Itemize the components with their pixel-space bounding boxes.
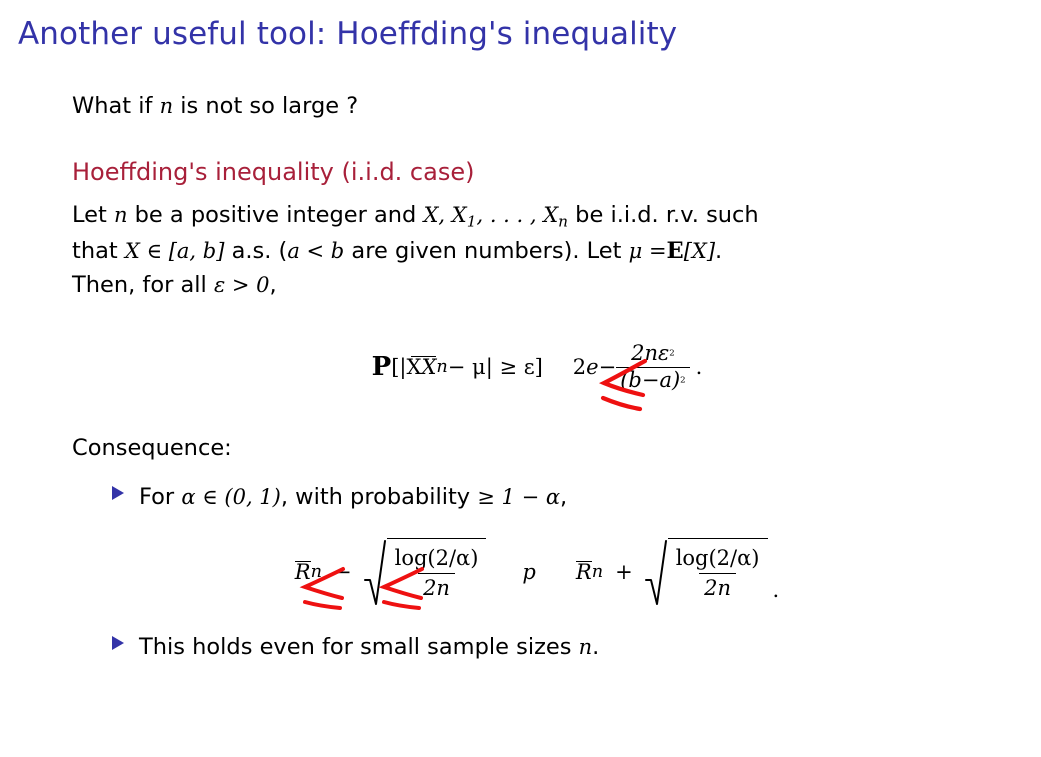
thm2-m2: ∈ <box>140 239 169 263</box>
triangle-bullet-icon <box>112 636 124 650</box>
radical-icon <box>645 538 668 606</box>
thm2-t1: that <box>72 238 125 264</box>
thm2-m5: μ = <box>629 239 667 263</box>
thm2-m4: a < b <box>287 239 344 263</box>
block-heading: Hoeffding's inequality (i.i.d. case) <box>72 160 1002 184</box>
thm3-m1: ε > 0 <box>214 273 270 297</box>
triangle-bullet-icon <box>112 486 124 500</box>
thm2-t4: . <box>715 238 722 264</box>
bn-m1: n <box>579 635 593 659</box>
thm2-m1: X <box>125 239 140 263</box>
thm2-t2: a.s. ( <box>224 238 287 264</box>
thm3-t2: , <box>270 272 277 298</box>
eq1-exp-num-sup: 2 <box>669 349 674 359</box>
ba-t3: , <box>560 484 567 510</box>
eq1-coefficient: 2 <box>573 355 586 379</box>
eq2-sqrt-right: log(2/α) 2n <box>645 538 768 606</box>
intro-question: What if n is not so large ? <box>72 95 1002 118</box>
thm2-m3: [a, b] <box>169 239 225 263</box>
thm2-m7: [X] <box>684 239 715 263</box>
consequence-label: Consequence: <box>72 437 1002 460</box>
thm2-expectation-symbol: E <box>667 238 684 264</box>
intro-text-after: is not so large ? <box>173 93 358 119</box>
eq1-lhs-rest: − μ| ≥ ε] <box>448 355 543 379</box>
eq1-lhs-sub: n <box>436 357 447 377</box>
eq1-exp-minus: − <box>599 355 617 379</box>
bullet-alpha-text: For α ∈ (0, 1), with probability ≥ 1 − α… <box>139 486 567 509</box>
eq2-rbar-right-sub: n <box>592 562 603 582</box>
eq2-rbar-left: R <box>295 561 311 582</box>
eq2-rbar-left-sub: n <box>311 562 322 582</box>
slide-body: What if n is not so large ? Hoeffding's … <box>72 95 1002 659</box>
bn-t2: . <box>592 634 599 660</box>
eq1-exp-den: (b−a) <box>620 368 680 392</box>
thm1-m1: n <box>114 203 128 227</box>
ba-m2: ≥ 1 − α <box>477 485 560 509</box>
eq2-plus: + <box>615 560 633 584</box>
eq2-rbar-right: R <box>576 561 592 582</box>
eq1-exponent: − 2nε2 (b−a)2 <box>599 342 690 392</box>
thm1-m2b: , . . . , X <box>476 203 558 227</box>
list-item-alpha: For α ∈ (0, 1), with probability ≥ 1 − α… <box>112 486 1002 509</box>
eq2-left-den: 2n <box>418 573 455 601</box>
eq1-exp-den-sup: 2 <box>680 375 685 385</box>
ba-t1: For <box>139 484 181 510</box>
thm3-t1: Then, for all <box>72 272 214 298</box>
theorem-line-1: Let n be a positive integer and X, X1, .… <box>72 204 1002 230</box>
eq2-period: . <box>773 578 780 606</box>
equation-confidence-interval: Rn − log(2/α) 2n p Rn + <box>72 538 1002 606</box>
thm1-m2sub2: n <box>558 212 568 230</box>
equation-hoeffding-bound: P[|XXn − μ| ≥ ε] 2e − 2nε2 (b−a)2 . <box>72 342 1002 392</box>
intro-text-before: What if <box>72 93 160 119</box>
thm1-t3: be i.i.d. r.v. such <box>568 202 759 228</box>
eq2-minus: − <box>334 560 352 584</box>
eq1-base: e <box>586 355 598 379</box>
eq1-probability-symbol: P <box>372 352 392 382</box>
intro-symbol-n: n <box>160 94 174 118</box>
page-title: Another useful tool: Hoeffding's inequal… <box>18 16 677 53</box>
radical-icon <box>364 538 387 606</box>
eq2-sqrt-left: log(2/α) 2n <box>364 538 487 606</box>
thm1-t1: Let <box>72 202 114 228</box>
theorem-line-3: Then, for all ε > 0, <box>72 274 1002 297</box>
eq1-exp-num: 2nε <box>631 341 669 365</box>
bn-t1: This holds even for small sample sizes <box>139 634 579 660</box>
thm1-m2: X, X <box>423 203 466 227</box>
thm2-t3: are given numbers). Let <box>344 238 628 264</box>
eq1-xbar: X <box>411 356 437 377</box>
eq2-p: p <box>522 560 535 584</box>
eq1-period: . <box>696 355 703 379</box>
eq2-right-den: 2n <box>699 573 736 601</box>
thm1-t2: be a positive integer and <box>128 202 424 228</box>
list-item-small-n: This holds even for small sample sizes n… <box>112 636 1002 659</box>
block-body: Let n be a positive integer and X, X1, .… <box>72 204 1002 297</box>
eq2-left-num: log(2/α) <box>390 546 484 573</box>
theorem-line-2: that X ∈ [a, b] a.s. (a < b are given nu… <box>72 240 1002 263</box>
ba-t2: , with probability <box>281 484 477 510</box>
eq2-right-num: log(2/α) <box>671 546 765 573</box>
thm1-m2sub: 1 <box>467 212 477 230</box>
ba-m1: α ∈ (0, 1) <box>181 485 281 509</box>
bullet-small-n-text: This holds even for small sample sizes n… <box>139 636 599 659</box>
